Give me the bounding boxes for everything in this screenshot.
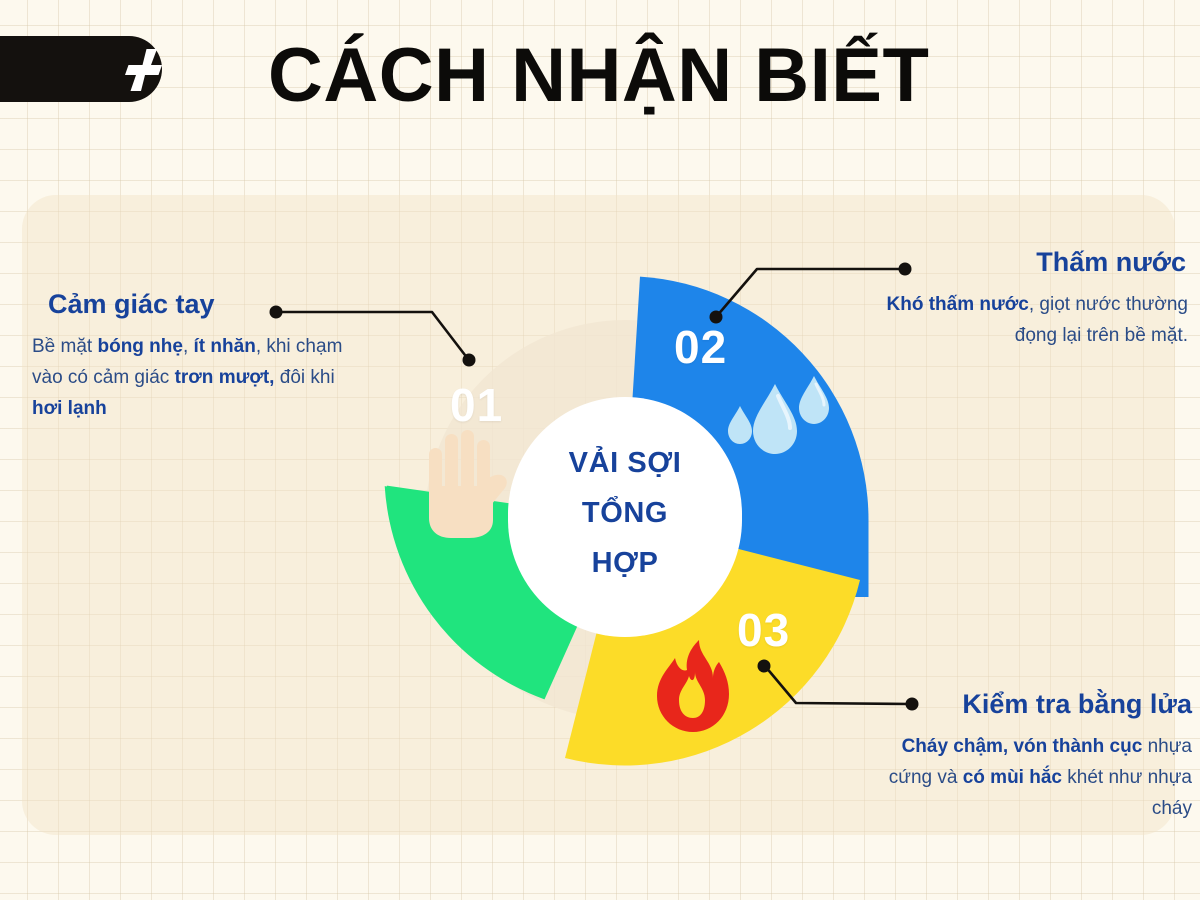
callout-block-03: Kiểm tra bằng lửa Cháy chậm, vón thành c… — [862, 688, 1192, 825]
page-title: CÁCH NHẬN BIẾT — [268, 38, 929, 114]
center-line-3: HỢP — [592, 539, 659, 589]
slashed-plus-icon — [120, 48, 166, 92]
flame-icon — [655, 638, 733, 734]
callout-body-02: Khó thấm nước, giọt nước thường đọng lại… — [858, 290, 1188, 352]
hand-icon — [421, 420, 513, 540]
slice-number-02: 02 — [674, 320, 727, 374]
center-line-1: VẢI SỢI — [569, 439, 682, 489]
center-line-2: TỔNG — [582, 489, 668, 539]
callout-title-03: Kiểm tra bằng lửa — [862, 688, 1192, 720]
callout-title-02: Thấm nước — [858, 246, 1188, 278]
callout-block-02: Thấm nước Khó thấm nước, giọt nước thườn… — [858, 246, 1188, 352]
callout-body-01: Bề mặt bóng nhẹ, ít nhăn, khi chạm vào c… — [32, 332, 352, 424]
center-hub: VẢI SỢI TỔNG HỢP — [508, 397, 742, 631]
slice-number-03: 03 — [737, 603, 790, 657]
water-drops-icon — [728, 370, 840, 456]
callout-body-03: Cháy chậm, vón thành cục nhựa cứng và có… — [862, 732, 1192, 824]
callout-block-01: Cảm giác tay Bề mặt bóng nhẹ, ít nhăn, k… — [32, 288, 352, 425]
callout-title-01: Cảm giác tay — [32, 288, 352, 320]
